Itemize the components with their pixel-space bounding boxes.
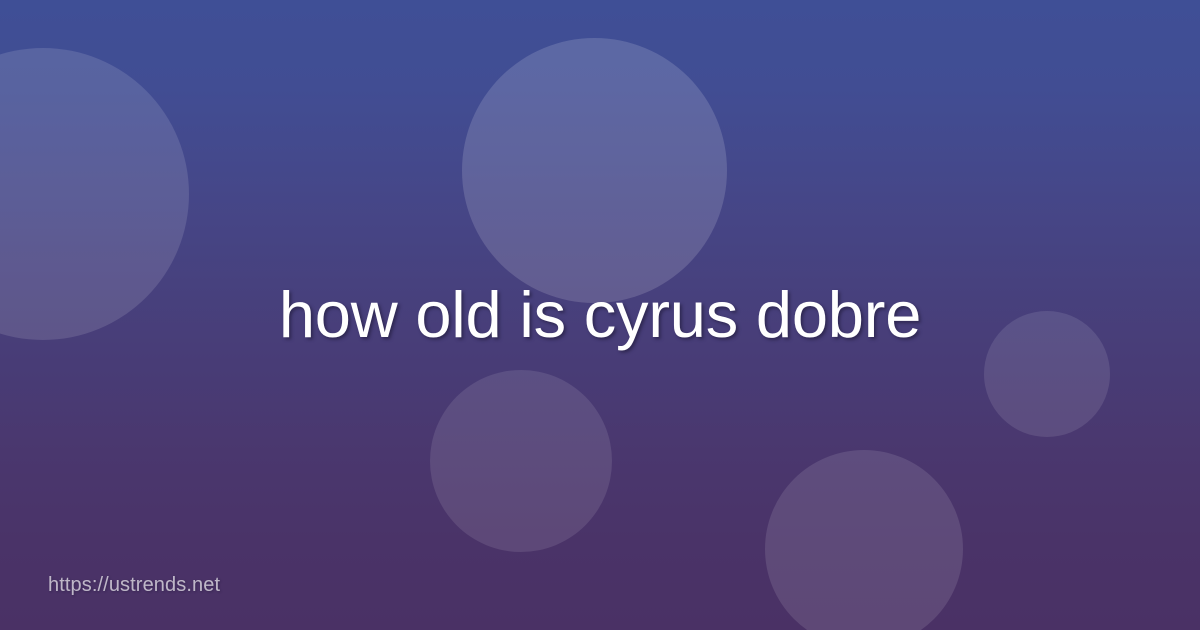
site-url-label: https://ustrends.net [48,574,220,597]
headline-container: how old is cyrus dobre [0,0,1200,630]
page-title: how old is cyrus dobre [279,279,921,352]
social-share-card: how old is cyrus dobre https://ustrends.… [0,0,1200,630]
